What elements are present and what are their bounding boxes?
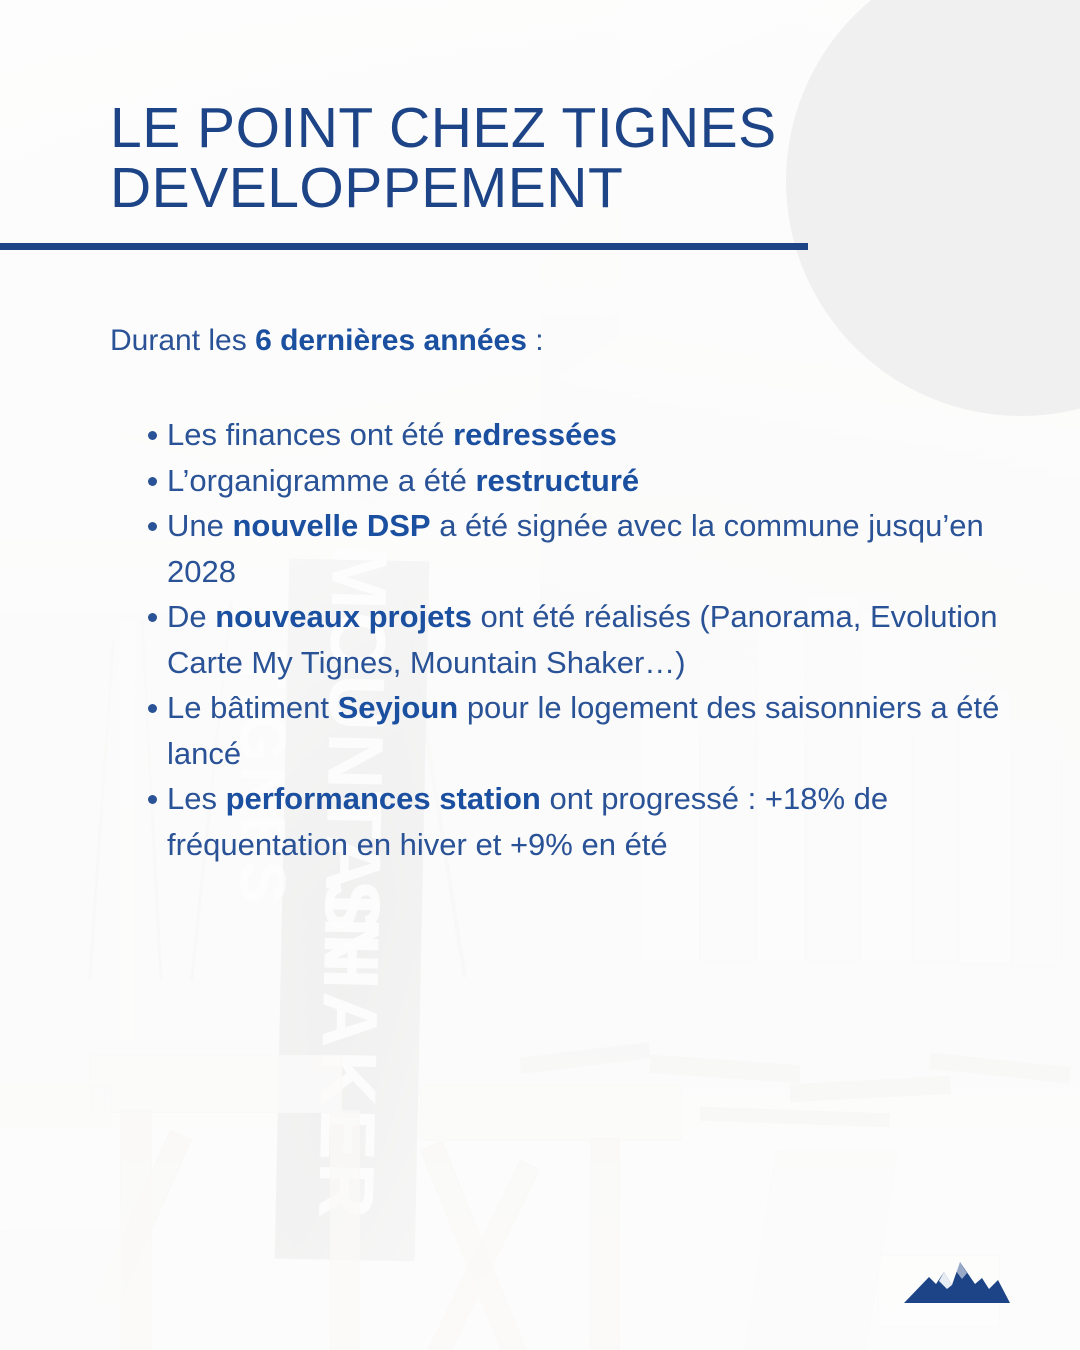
bullet-item: Une nouvelle DSP a été signée avec la co… <box>110 503 1010 594</box>
bullet-item: L’organigramme a été restructuré <box>110 458 1010 504</box>
bullet-emphasis: restructuré <box>475 463 639 498</box>
bullet-text: L’organigramme a été <box>167 463 475 498</box>
bullet-text: Une <box>167 508 232 543</box>
bullet-text: Les finances ont été <box>167 417 453 452</box>
bullet-emphasis: Seyjoun <box>338 690 459 725</box>
intro-suffix: : <box>527 324 544 357</box>
bullet-item: Le bâtiment Seyjoun pour le logement des… <box>110 685 1010 776</box>
bullet-emphasis: performances station <box>226 781 541 816</box>
bullet-item: De nouveaux projets ont été réalisés (Pa… <box>110 594 1010 685</box>
slide-canvas: MOUNTAIN SHAKER TIGNES LE POINT CHEZ TIG… <box>0 0 1080 1350</box>
intro-emphasis: 6 dernières années <box>255 324 527 357</box>
header-divider <box>0 243 808 250</box>
tignes-mountain-logo <box>903 1248 1011 1310</box>
bullet-text: Les <box>167 781 226 816</box>
bullet-emphasis: redressées <box>453 417 617 452</box>
bullet-emphasis: nouveaux projets <box>215 599 472 634</box>
intro-prefix: Durant les <box>110 324 255 357</box>
bullet-item: Les finances ont été redressées <box>110 412 1010 458</box>
bullet-list: Les finances ont été redresséesL’organig… <box>110 412 1010 867</box>
bullet-text: Le bâtiment <box>167 690 338 725</box>
bullet-item: Les performances station ont progressé :… <box>110 776 1010 867</box>
bullet-text: De <box>167 599 215 634</box>
intro-line: Durant les 6 dernières années : <box>110 322 544 360</box>
bullet-emphasis: nouvelle DSP <box>232 508 430 543</box>
page-title: LE POINT CHEZ TIGNES DEVELOPPEMENT <box>110 98 870 218</box>
